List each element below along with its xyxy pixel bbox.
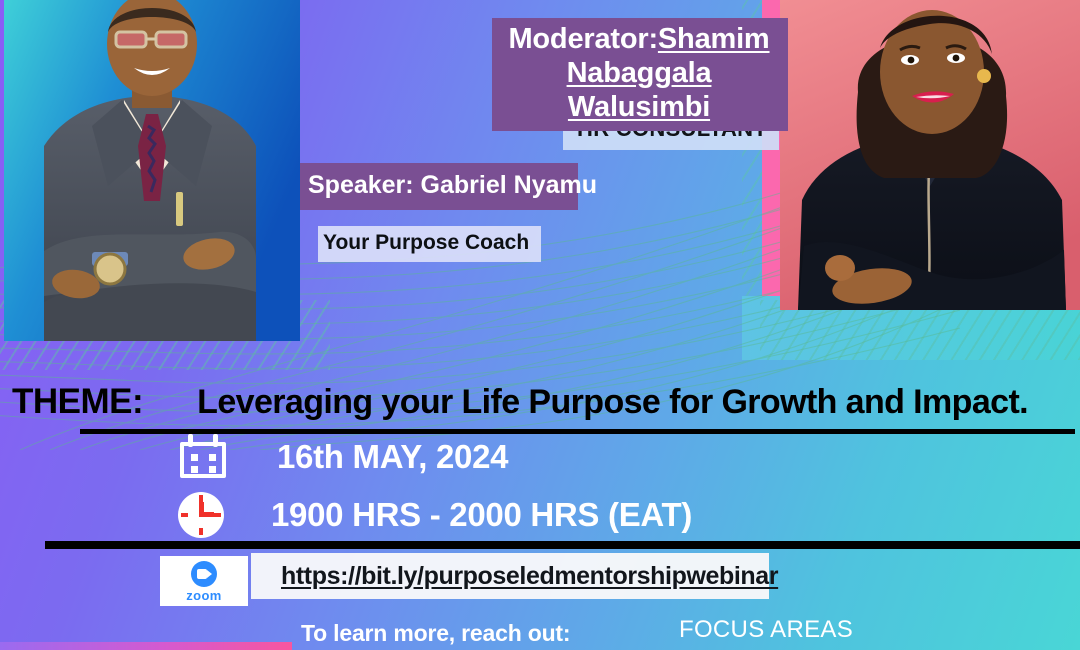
speaker-photo xyxy=(4,0,300,341)
theme-text: Leveraging your Life Purpose for Growth … xyxy=(197,383,1028,422)
zoom-camera-icon xyxy=(191,561,217,587)
reach-out-text: To learn more, reach out: xyxy=(301,620,570,647)
zoom-logo: zoom xyxy=(160,556,248,606)
moderator-prefix: Moderator: xyxy=(508,23,657,55)
date-row: 16th MAY, 2024 xyxy=(180,434,508,480)
webinar-poster: Moderator:Shamim Nabaggala Walusimbi HR … xyxy=(0,0,1080,650)
moderator-name-line2: Nabaggala Walusimbi xyxy=(567,57,712,123)
time-text: 1900 HRS - 2000 HRS (EAT) xyxy=(271,496,692,534)
clock-icon xyxy=(178,492,224,538)
date-text: 16th MAY, 2024 xyxy=(277,438,508,476)
moderator-ribbon: Moderator:Shamim Nabaggala Walusimbi xyxy=(492,18,788,131)
speaker-tagline-badge: Your Purpose Coach xyxy=(318,226,541,262)
theme-label: THEME: xyxy=(12,382,143,422)
time-divider xyxy=(45,541,1080,549)
bottom-accent-strip xyxy=(0,642,292,650)
speaker-ribbon: Speaker: Gabriel Nyamu xyxy=(300,163,578,210)
time-row: 1900 HRS - 2000 HRS (EAT) xyxy=(178,492,692,538)
webinar-link[interactable]: https://bit.ly/purposeledmentorshipwebin… xyxy=(281,562,778,591)
theme-row: THEME: Leveraging your Life Purpose for … xyxy=(12,382,1080,422)
calendar-icon xyxy=(180,434,230,480)
moderator-photo xyxy=(780,0,1080,310)
focus-areas-heading: FOCUS AREAS xyxy=(679,616,853,644)
webinar-link-box[interactable]: https://bit.ly/purposeledmentorshipwebin… xyxy=(251,553,769,599)
moderator-name-line1: Shamim xyxy=(658,23,770,55)
zoom-wordmark: zoom xyxy=(186,589,222,602)
